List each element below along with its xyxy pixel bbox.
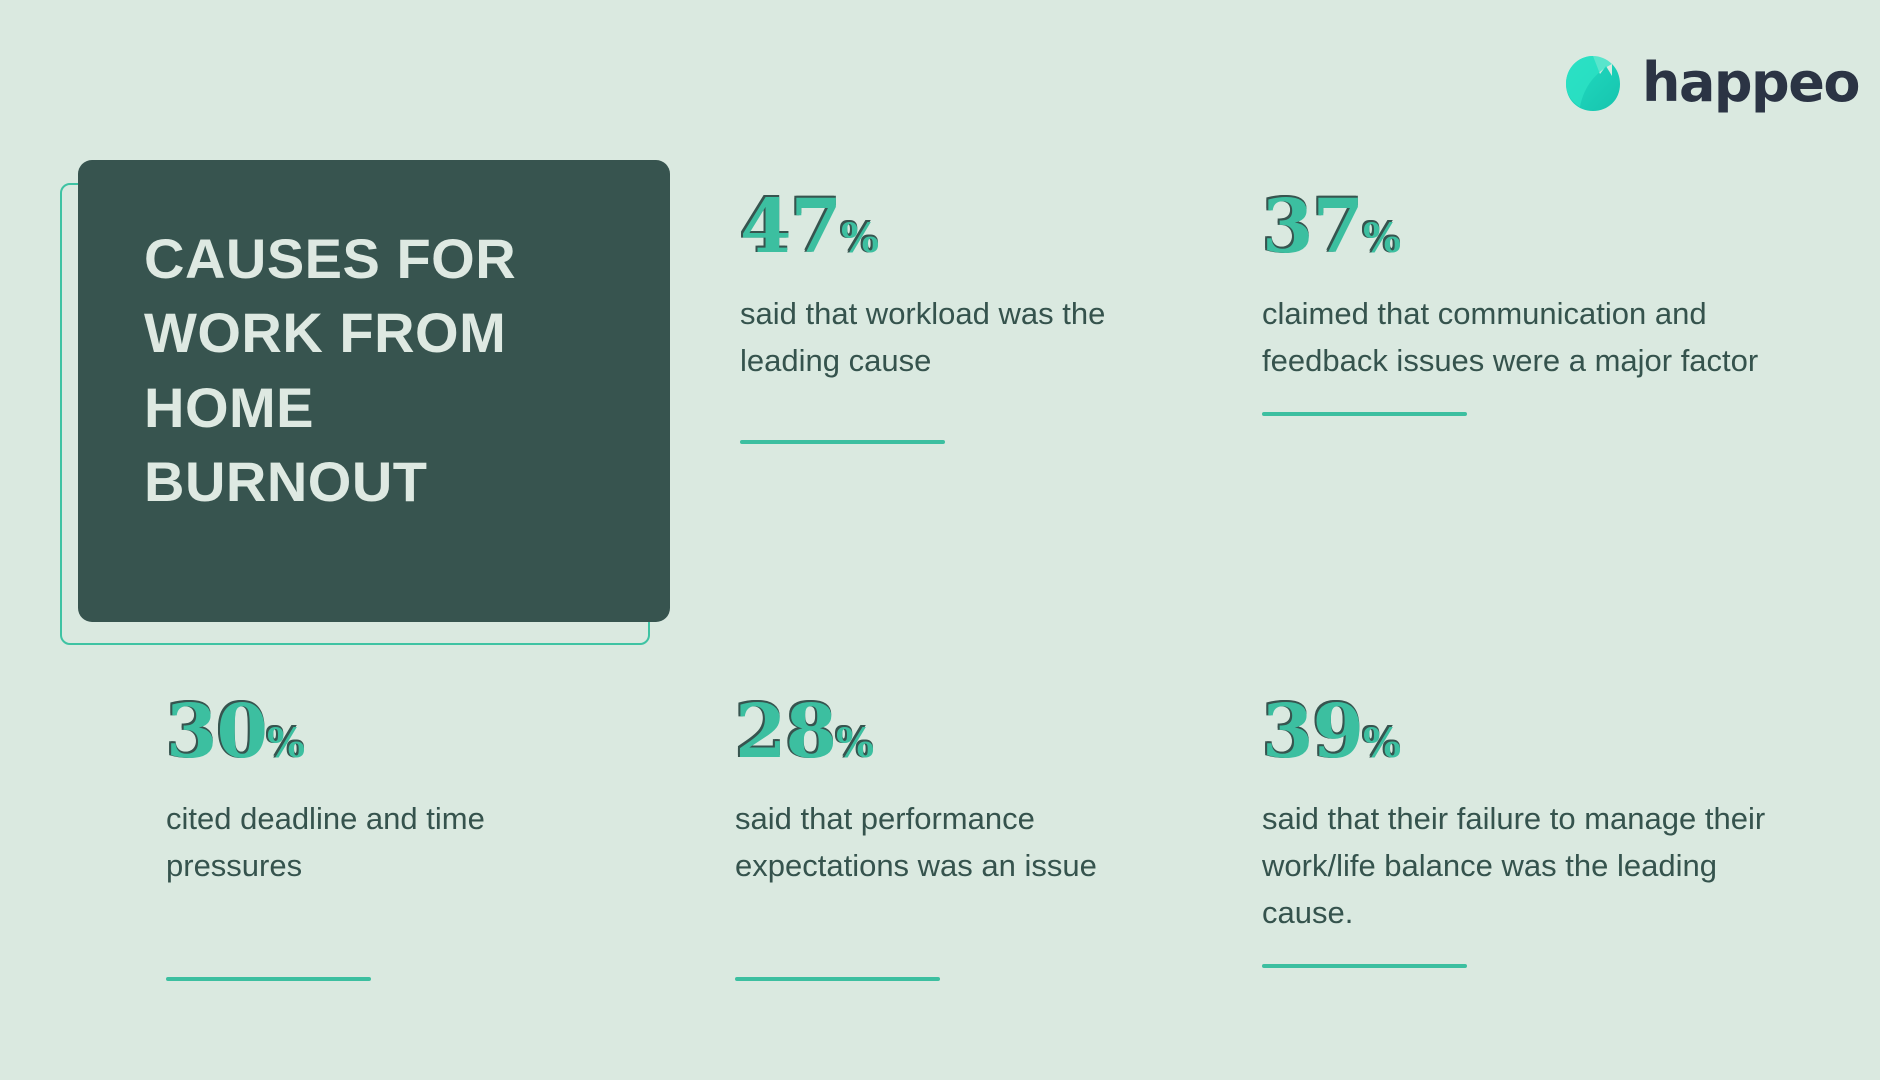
stat-block: 30% cited deadline and time pressures xyxy=(166,695,566,981)
stat-value: 39% xyxy=(1262,695,1802,769)
stat-value: 30% xyxy=(166,695,566,769)
stat-description: said that performance expectations was a… xyxy=(735,795,1205,889)
title-card: Causes for work from home burnout xyxy=(60,160,680,645)
brand-wordmark: happeo xyxy=(1642,56,1859,110)
page-title: Causes for work from home burnout xyxy=(144,222,574,520)
stat-divider xyxy=(1262,964,1467,968)
percent-symbol: % xyxy=(841,215,878,262)
stat-divider xyxy=(166,977,371,981)
percent-symbol: % xyxy=(1363,720,1400,767)
stat-divider xyxy=(740,440,945,444)
stat-value: 37% xyxy=(1262,190,1772,264)
stat-description: said that workload was the leading cause xyxy=(740,290,1170,384)
stat-description: cited deadline and time pressures xyxy=(166,795,566,889)
stat-value: 47% xyxy=(740,190,1170,264)
stat-description: said that their failure to manage their … xyxy=(1262,795,1802,936)
percent-symbol: % xyxy=(267,720,304,767)
leaf-drop-icon xyxy=(1562,52,1624,114)
stat-block: 37% claimed that communication and feedb… xyxy=(1262,190,1772,416)
brand-logo: happeo xyxy=(1562,52,1859,114)
percent-symbol: % xyxy=(836,720,873,767)
stat-block: 47% said that workload was the leading c… xyxy=(740,190,1170,444)
stat-divider xyxy=(735,977,940,981)
percent-symbol: % xyxy=(1363,215,1400,262)
stat-value: 28% xyxy=(735,695,1205,769)
stat-block: 28% said that performance expectations w… xyxy=(735,695,1205,981)
stat-block: 39% said that their failure to manage th… xyxy=(1262,695,1802,968)
stat-description: claimed that communication and feedback … xyxy=(1262,290,1772,384)
stat-divider xyxy=(1262,412,1467,416)
